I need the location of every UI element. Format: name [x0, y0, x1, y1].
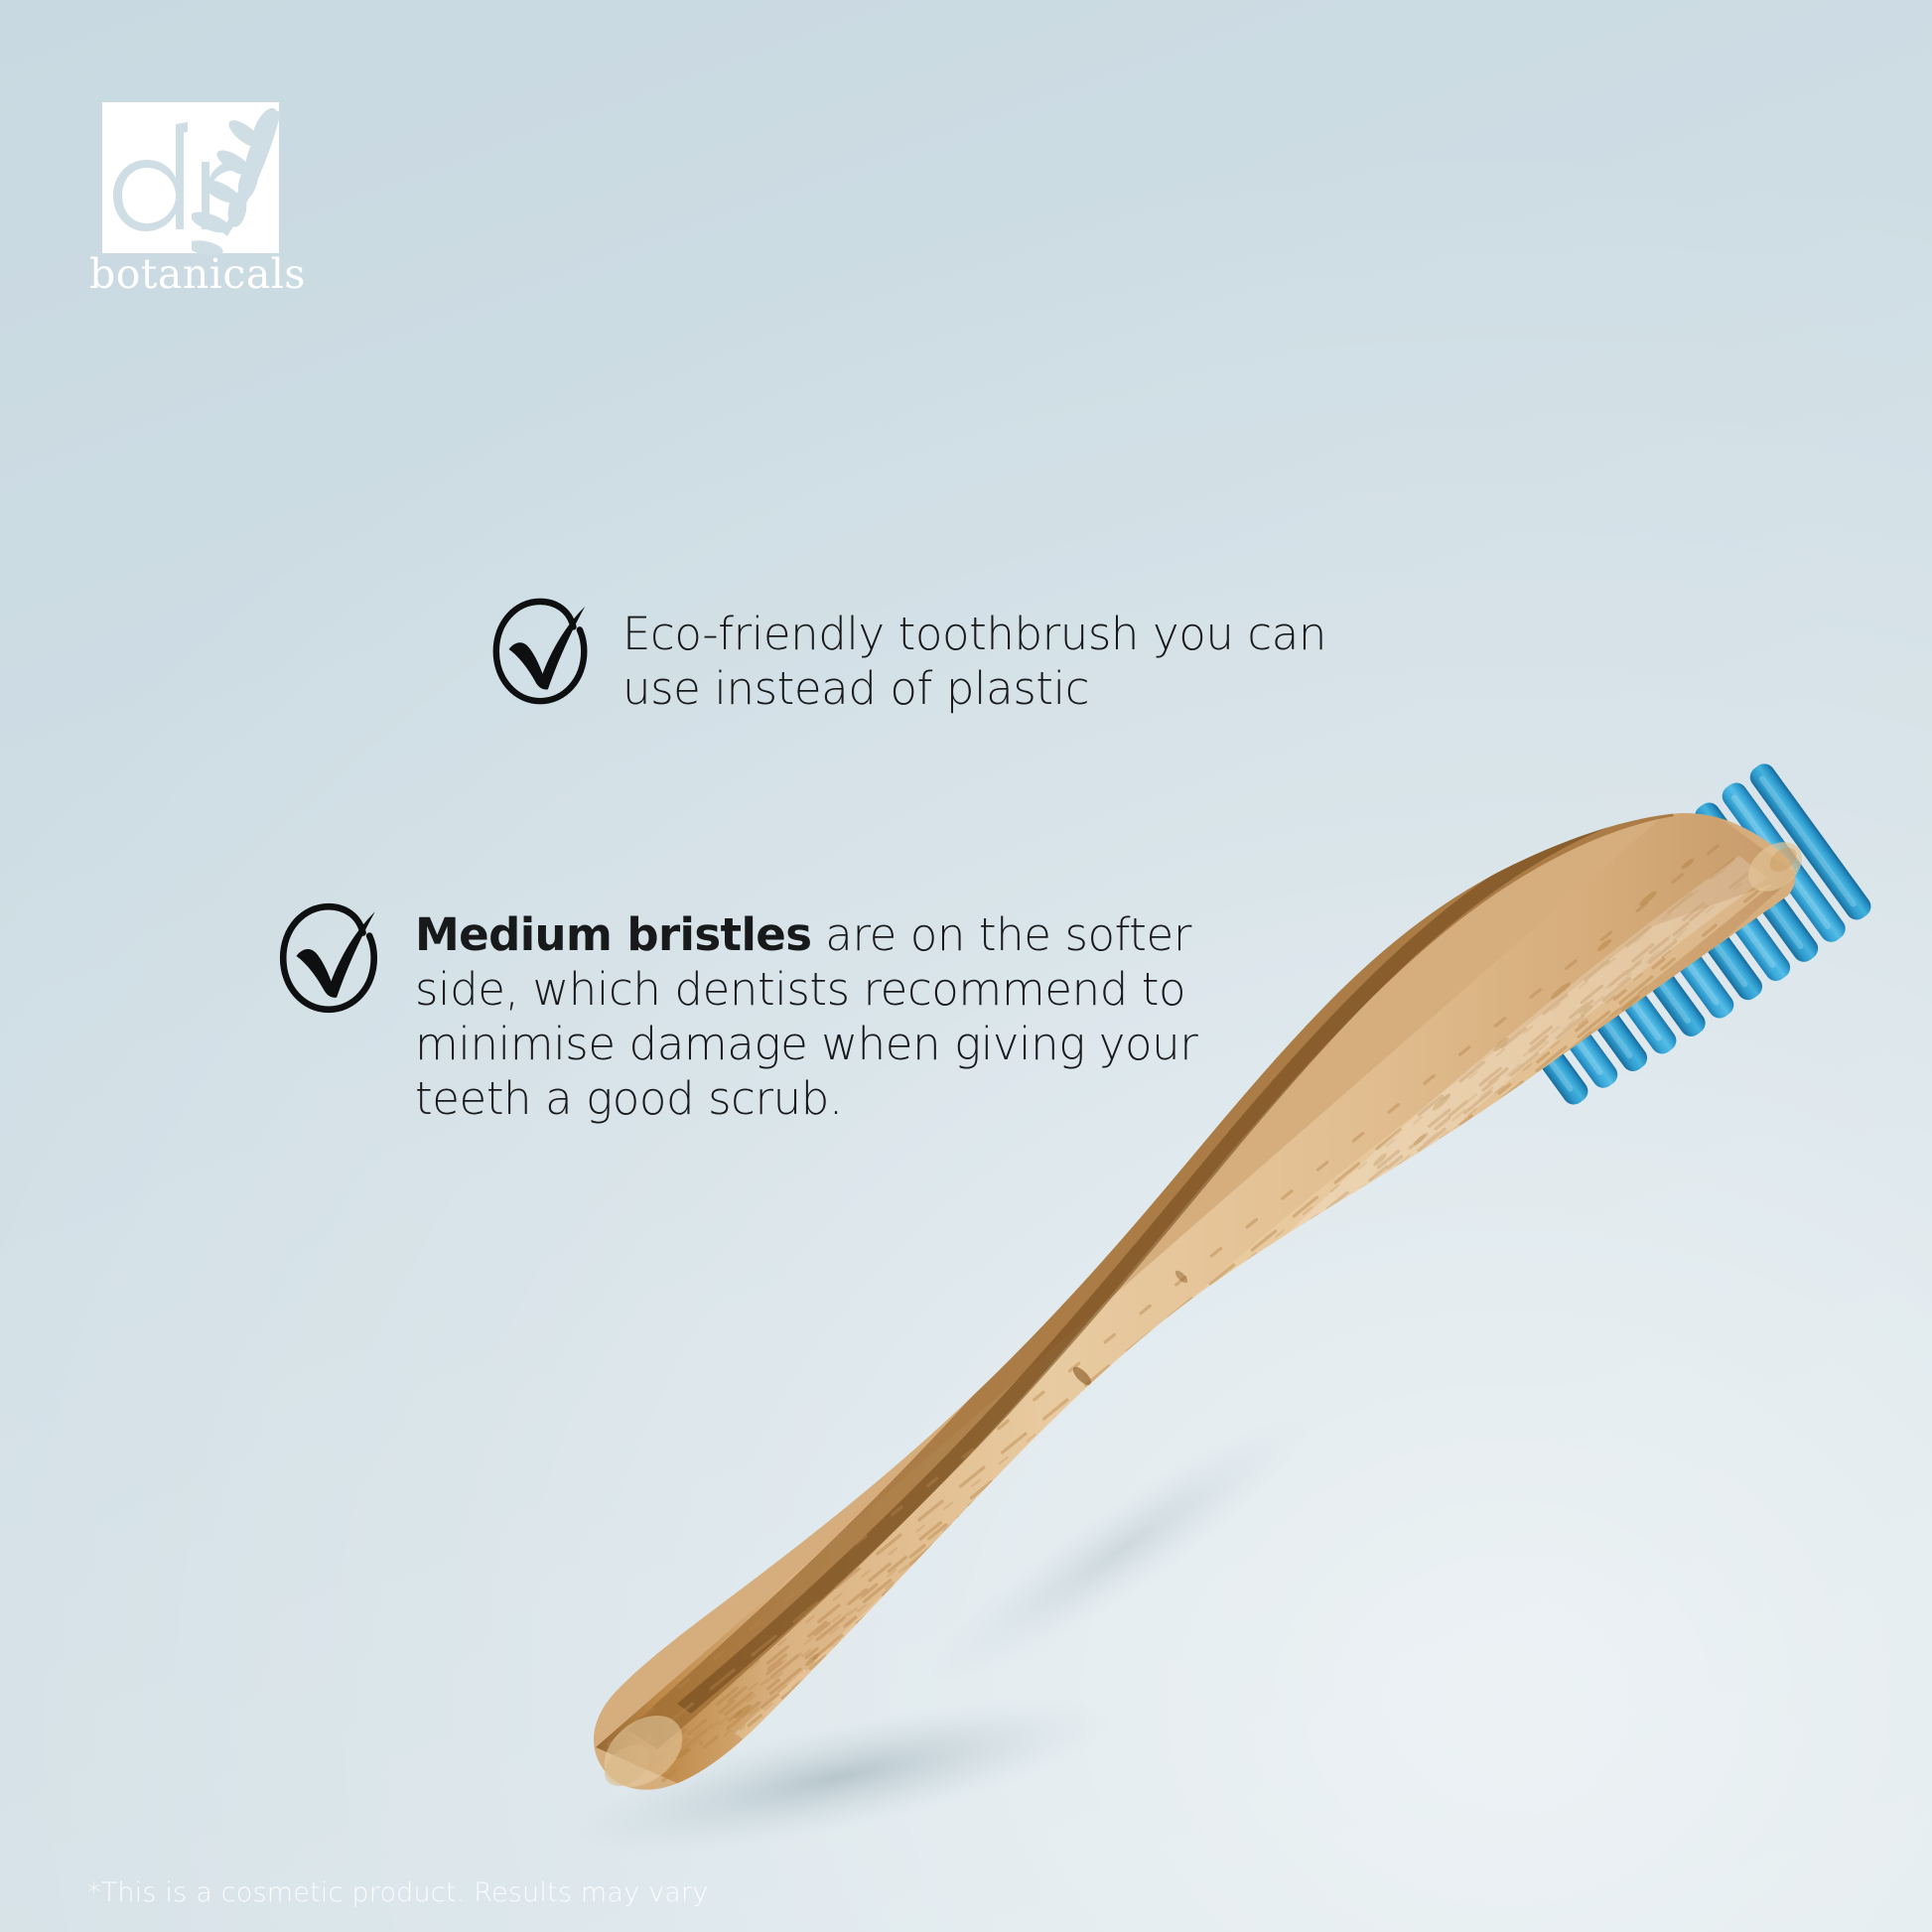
logo-white-square [102, 102, 279, 253]
legal-disclaimer: *This is a cosmetic product. Results may… [87, 1877, 709, 1908]
check-circle-icon [483, 594, 601, 711]
bullet-1-body: Eco-friendly toothbrush you can use inst… [622, 608, 1326, 715]
brand-logo: botanicals [83, 83, 381, 302]
feature-bullet-1: Eco-friendly toothbrush you can use inst… [483, 594, 1397, 717]
product-marketing-image: botanicals Eco-friendly toothbrush you c… [0, 0, 1932, 1932]
toothbrush-bristles [1472, 759, 1877, 1125]
logo-wordmark: botanicals [89, 254, 306, 295]
feature-bullet-1-text: Eco-friendly toothbrush you can use inst… [622, 594, 1397, 717]
bullet-2-lead: Medium bristles [415, 908, 811, 961]
leaf-sprig-icon [192, 106, 283, 255]
feature-bullet-2: Medium bristles are on the softer side, … [270, 898, 1263, 1127]
feature-bullet-2-text: Medium bristles are on the softer side, … [415, 898, 1263, 1127]
product-shadow [551, 1668, 1126, 1886]
check-circle-icon [270, 898, 391, 1020]
